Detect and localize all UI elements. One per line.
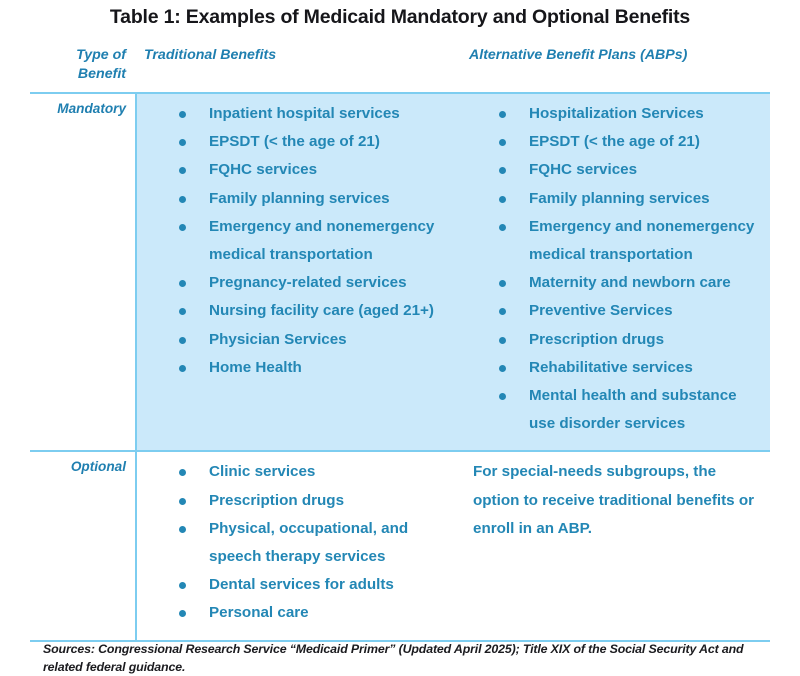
list-item: Prescription drugs [499,326,760,354]
bullet-icon [499,280,506,287]
list-item: Pregnancy-related services [179,269,437,297]
list-item-label: Mental health and substance use disorder… [529,387,737,432]
list-item: Clinic services [179,458,437,486]
list-item-label: FQHC services [529,161,637,178]
table-row-mandatory: Mandatory Inpatient hospital services EP… [30,93,770,451]
list-item-label: Pregnancy-related services [209,274,407,291]
list-item: Family planning services [179,185,437,213]
sources-note: Sources: Congressional Research Service … [43,641,773,676]
column-header-traditional-benefits: Traditional Benefits [136,40,447,93]
list-item: FQHC services [499,156,760,184]
list-item: FQHC services [179,156,437,184]
benefits-table-container: Type of Benefit Traditional Benefits Alt… [30,40,770,642]
list-item-label: Physician Services [209,331,347,348]
bullet-icon [179,224,186,231]
bullet-icon [179,469,186,476]
bullet-icon [499,393,506,400]
list-item: Rehabilitative services [499,354,760,382]
optional-abp-note: For special-needs subgroups, the option … [471,458,760,543]
list-item-label: Preventive Services [529,302,673,319]
list-item-label: Rehabilitative services [529,359,693,376]
bullet-icon [179,196,186,203]
list-item: EPSDT (< the age of 21) [179,128,437,156]
list-item-label: EPSDT (< the age of 21) [529,133,700,150]
list-item-label: Prescription drugs [209,492,344,509]
list-item: Physical, occupational, and speech thera… [179,515,437,571]
list-item: Physician Services [179,326,437,354]
bullet-icon [179,280,186,287]
list-item-label: Prescription drugs [529,331,664,348]
bullet-icon [179,111,186,118]
bullet-icon [179,167,186,174]
bullet-icon [179,610,186,617]
list-item: Emergency and nonemergency medical trans… [179,213,437,269]
list-item: Dental services for adults [179,571,437,599]
list-item-label: Clinic services [209,463,315,480]
list-item-label: Emergency and nonemergency medical trans… [529,218,754,263]
bullet-icon [499,337,506,344]
list-item-label: Personal care [209,604,309,621]
table-page: Table 1: Examples of Medicaid Mandatory … [0,0,800,675]
list-item-label: Family planning services [209,190,390,207]
bullet-icon [499,224,506,231]
cell-mandatory-abp: Hospitalization Services EPSDT (< the ag… [447,93,770,451]
list-item-label: Nursing facility care (aged 21+) [209,302,434,319]
list-item: EPSDT (< the age of 21) [499,128,760,156]
list-item-label: Dental services for adults [209,576,394,593]
table-header: Type of Benefit Traditional Benefits Alt… [30,40,770,93]
row-label-mandatory: Mandatory [30,93,136,451]
list-mandatory-abp: Hospitalization Services EPSDT (< the ag… [471,100,760,438]
list-item-label: Maternity and newborn care [529,274,731,291]
cell-optional-traditional: Clinic services Prescription drugs Physi… [136,451,447,640]
bullet-icon [179,365,186,372]
column-header-type-line2: Benefit [30,65,126,84]
column-header-type-of-benefit: Type of Benefit [30,40,136,93]
bullet-icon [499,365,506,372]
list-item: Inpatient hospital services [179,100,437,128]
header-row: Type of Benefit Traditional Benefits Alt… [30,40,770,93]
bullet-icon [499,196,506,203]
bullet-icon [179,582,186,589]
bullet-icon [499,139,506,146]
list-item: Emergency and nonemergency medical trans… [499,213,760,269]
row-label-optional: Optional [30,451,136,640]
benefits-table: Type of Benefit Traditional Benefits Alt… [30,40,770,642]
list-item: Family planning services [499,185,760,213]
list-item: Prescription drugs [179,487,437,515]
bullet-icon [179,526,186,533]
column-header-alternative-benefit-plans: Alternative Benefit Plans (ABPs) [447,40,770,93]
bullet-icon [499,308,506,315]
list-item: Maternity and newborn care [499,269,760,297]
bullet-icon [179,139,186,146]
list-item: Mental health and substance use disorder… [499,382,760,438]
list-item-label: Home Health [209,359,302,376]
list-item: Nursing facility care (aged 21+) [179,297,437,325]
bullet-icon [499,111,506,118]
list-item-label: Family planning services [529,190,710,207]
bullet-icon [179,308,186,315]
list-item: Preventive Services [499,297,760,325]
table-body: Mandatory Inpatient hospital services EP… [30,93,770,641]
bullet-icon [179,498,186,505]
page-title: Table 1: Examples of Medicaid Mandatory … [0,6,800,29]
list-item-label: EPSDT (< the age of 21) [209,133,380,150]
list-optional-traditional: Clinic services Prescription drugs Physi… [147,458,437,627]
list-mandatory-traditional: Inpatient hospital services EPSDT (< the… [147,100,437,382]
list-item-label: Inpatient hospital services [209,105,400,122]
bullet-icon [179,337,186,344]
column-header-type-line1: Type of [30,46,126,65]
table-row-optional: Optional Clinic services Prescription dr… [30,451,770,640]
list-item-label: Physical, occupational, and speech thera… [209,520,408,565]
cell-optional-abp: For special-needs subgroups, the option … [447,451,770,640]
list-item: Personal care [179,599,437,627]
list-item: Hospitalization Services [499,100,760,128]
list-item: Home Health [179,354,437,382]
list-item-label: Emergency and nonemergency medical trans… [209,218,434,263]
list-item-label: FQHC services [209,161,317,178]
bullet-icon [499,167,506,174]
list-item-label: Hospitalization Services [529,105,704,122]
cell-mandatory-traditional: Inpatient hospital services EPSDT (< the… [136,93,447,451]
